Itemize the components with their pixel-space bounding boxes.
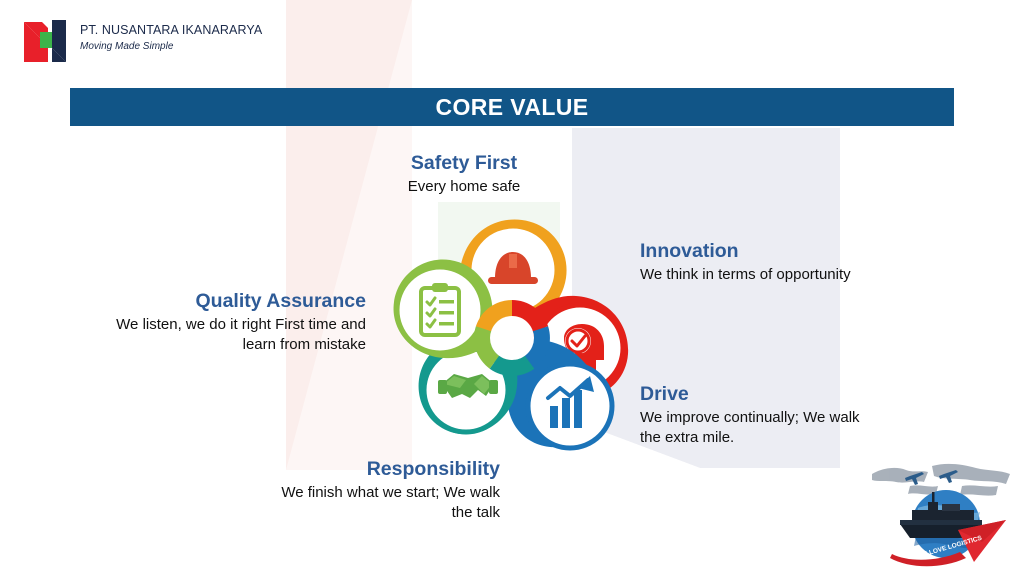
value-description-drive-line2: the extra mile. [640, 428, 905, 448]
value-heading-safety: Safety First [330, 152, 598, 174]
brand-text-block: PT. NUSANTARA IKANARARYA Moving Made Sim… [80, 18, 262, 52]
five-petal-pinwheel-diagram [382, 198, 650, 460]
value-description-safety: Every home safe [330, 177, 598, 197]
value-heading-responsibility: Responsibility [212, 458, 500, 480]
slide-core-value: PT. NUSANTARA IKANARARYA Moving Made Sim… [0, 0, 1024, 576]
value-heading-quality: Quality Assurance [58, 290, 366, 312]
value-heading-innovation: Innovation [640, 240, 970, 262]
value-description-drive: We improve continually; We walk the extr… [640, 408, 905, 448]
company-tagline: Moving Made Simple [80, 41, 262, 52]
value-description-responsibility: We finish what we start; We walk the tal… [212, 483, 500, 523]
title-band: CORE VALUE [70, 88, 954, 126]
value-description-responsibility-line2: the talk [212, 503, 500, 523]
value-block-quality: Quality Assurance We listen, we do it ri… [58, 290, 366, 355]
value-description-quality: We listen, we do it right First time and… [58, 315, 366, 355]
value-description-drive-line1: We improve continually; We walk [640, 408, 905, 428]
we-love-logistics-logo: WE LOVE LOGISTICS [866, 458, 1018, 570]
value-description-responsibility-line1: We finish what we start; We walk [212, 483, 500, 503]
value-block-drive: Drive We improve continually; We walk th… [640, 383, 905, 448]
nusantara-n-mark-icon [22, 18, 70, 64]
value-block-safety: Safety First Every home safe [330, 152, 598, 197]
value-heading-drive: Drive [640, 383, 905, 405]
company-name: PT. NUSANTARA IKANARARYA [80, 23, 262, 37]
value-description-innovation: We think in terms of opportunity [640, 265, 970, 285]
value-description-quality-line1: We listen, we do it right First time and [58, 315, 366, 335]
value-description-quality-line2: learn from mistake [58, 335, 366, 355]
brand-header: PT. NUSANTARA IKANARARYA Moving Made Sim… [22, 18, 262, 64]
center-ring [474, 300, 550, 376]
value-block-responsibility: Responsibility We finish what we start; … [212, 458, 500, 523]
page-title: CORE VALUE [435, 94, 588, 121]
value-block-innovation: Innovation We think in terms of opportun… [640, 240, 970, 285]
